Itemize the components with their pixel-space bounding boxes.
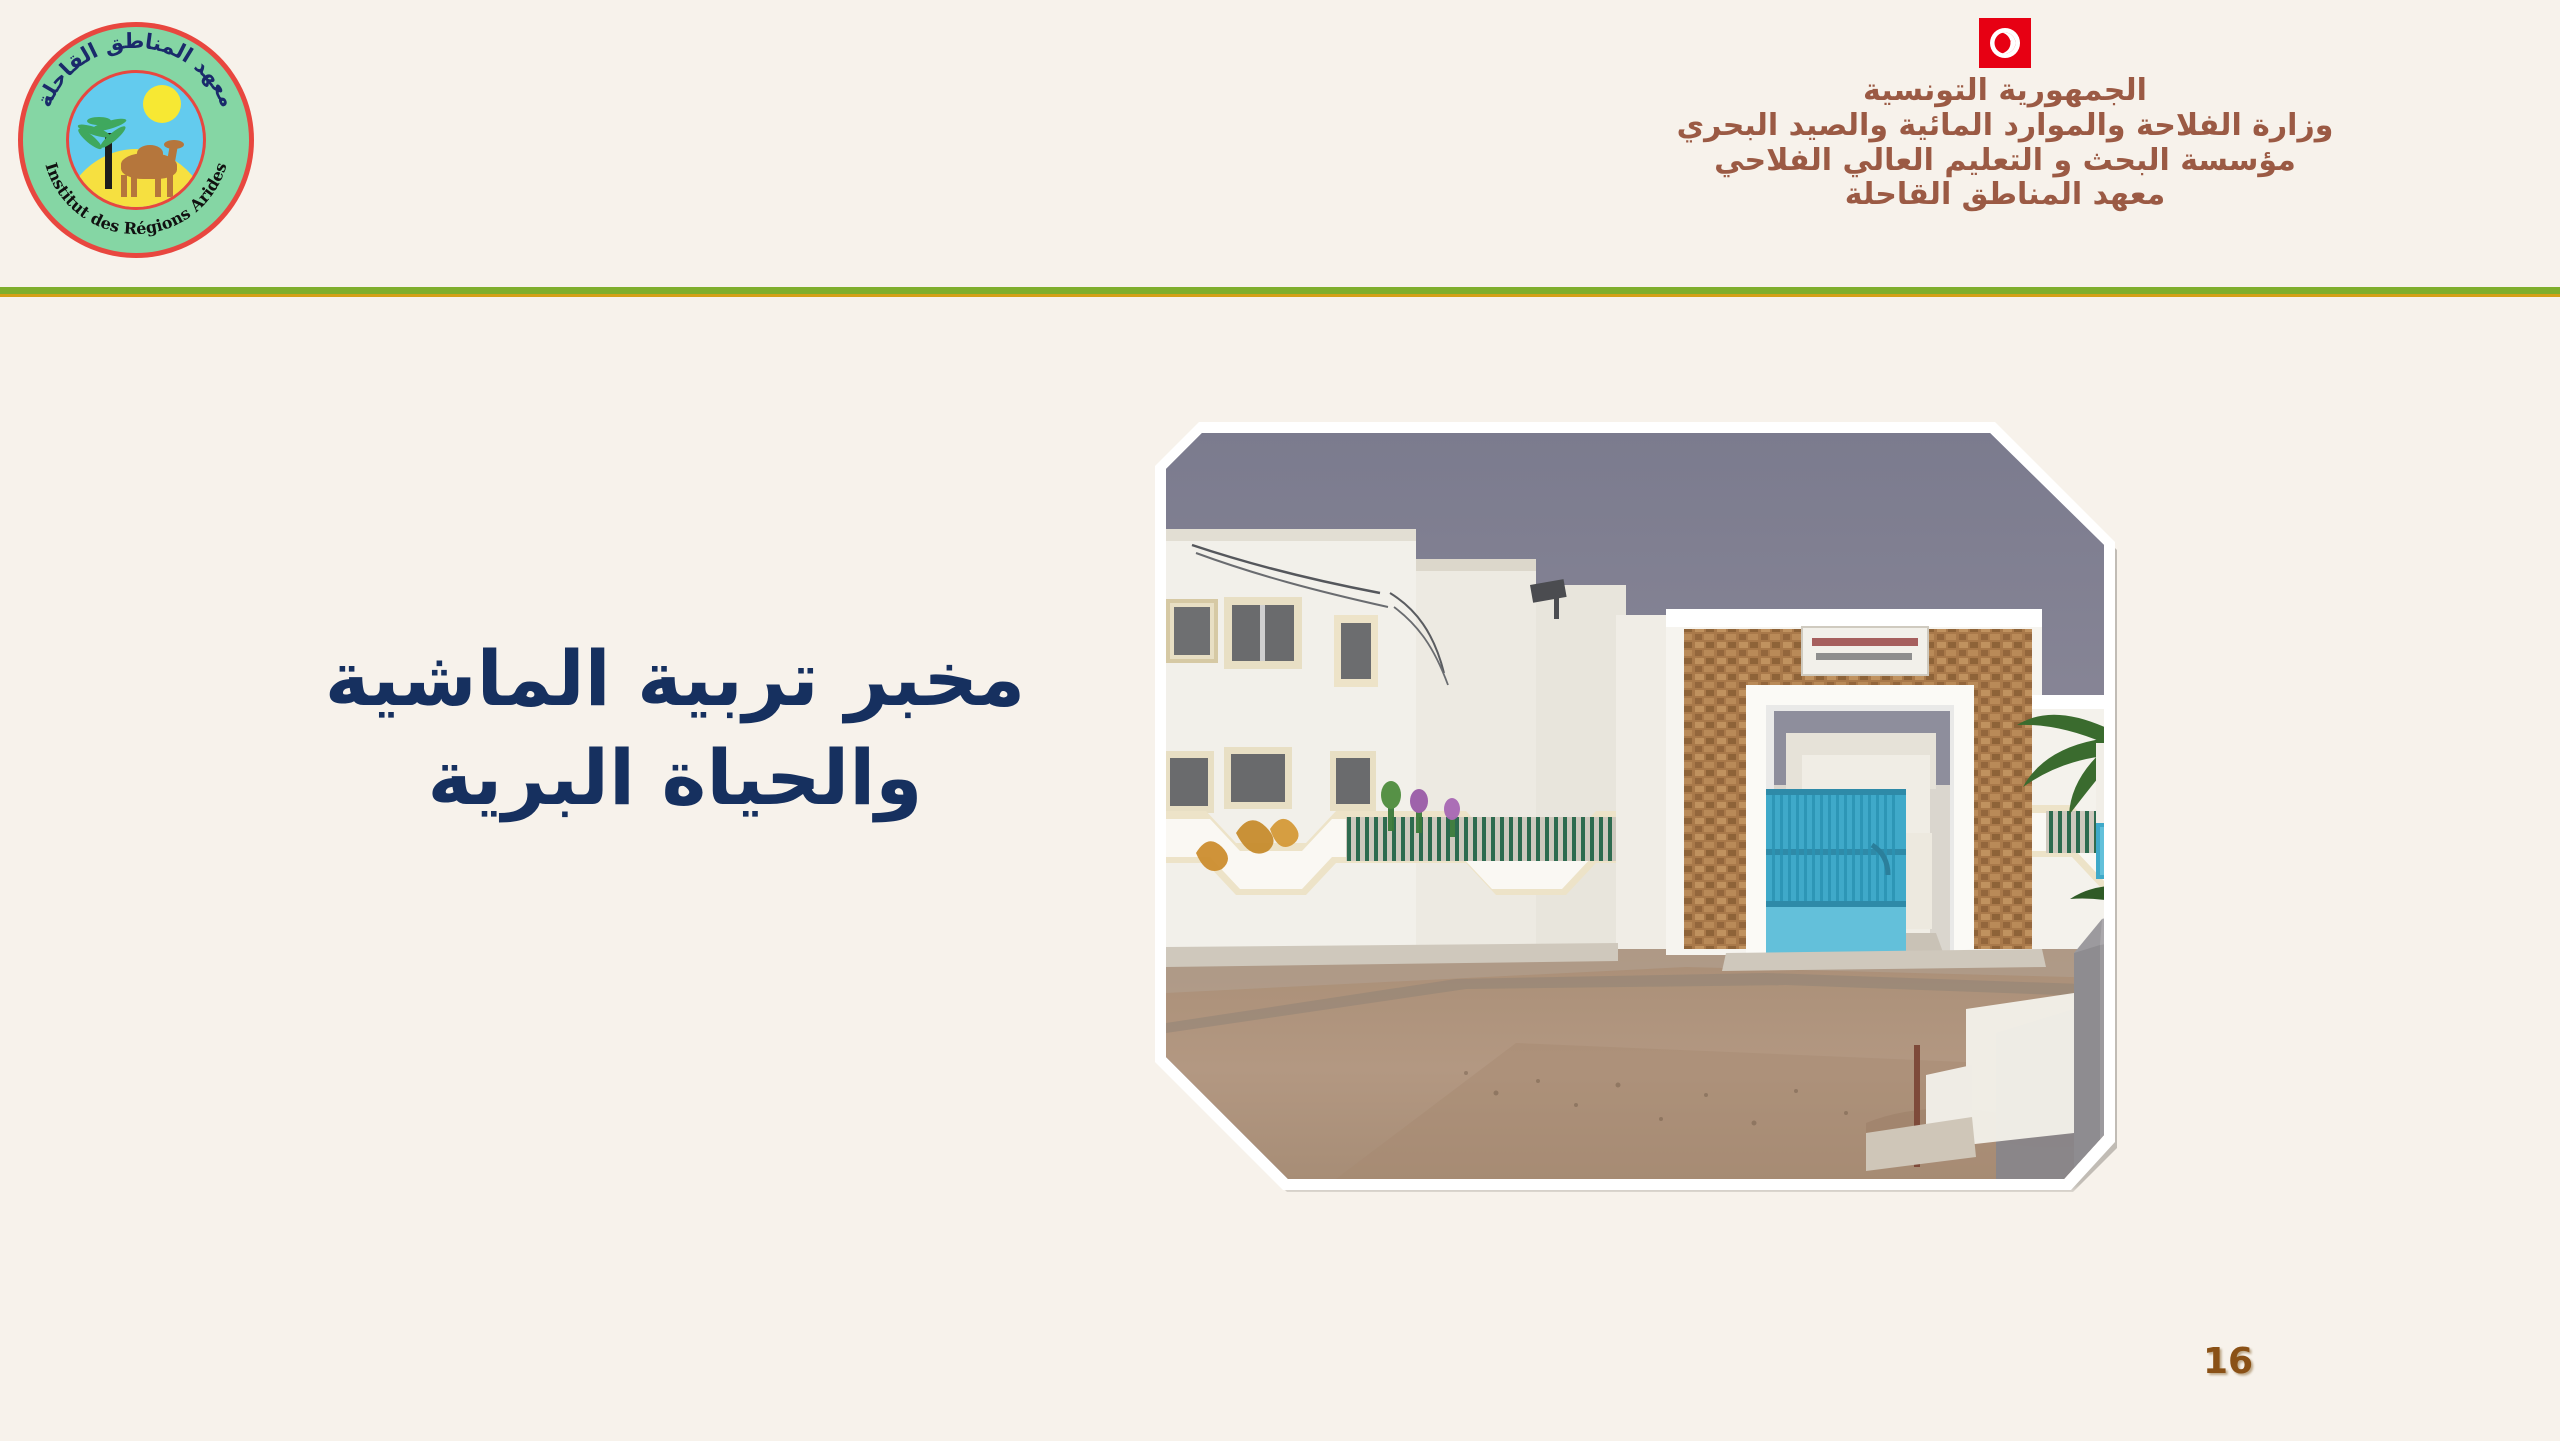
header-line-ministry: وزارة الفلاحة والموارد المائية والصيد ال… bbox=[1450, 109, 2560, 144]
header-line-republic: الجمهورية التونسية bbox=[1450, 74, 2560, 109]
fence-right bbox=[2046, 811, 2224, 853]
ministry-heading-block: ★ الجمهورية التونسية وزارة الفلاحة والمو… bbox=[1450, 14, 2560, 213]
slide-header: معهد المناطق القاحلة Institut des Région… bbox=[0, 0, 2560, 288]
fence-left bbox=[1346, 817, 1616, 861]
header-divider-green bbox=[0, 287, 2560, 294]
slide-title: مخبر تربية الماشية والحياة البرية bbox=[250, 630, 1100, 828]
institute-logo: معهد المناطق القاحلة Institut des Région… bbox=[18, 22, 254, 258]
stone-cladding-left bbox=[1684, 629, 1748, 949]
presentation-slide: معهد المناطق القاحلة Institut des Région… bbox=[0, 0, 2560, 1441]
entrance-gateway bbox=[1666, 609, 2042, 955]
logo-latin-text-arc: Institut des Régions Arides bbox=[18, 22, 254, 258]
slide-title-line-1: مخبر تربية الماشية bbox=[250, 630, 1100, 729]
photo-scene-illustration bbox=[1166, 433, 2224, 1179]
flag-star-icon: ★ bbox=[2000, 36, 2013, 50]
photo-white-frame bbox=[1155, 422, 2235, 1190]
institute-signboard bbox=[1802, 627, 1928, 675]
slide-page-number: 16 bbox=[2203, 1341, 2253, 1382]
logo-latin-label: Institut des Régions Arides bbox=[41, 160, 230, 238]
slide-title-line-2: والحياة البرية bbox=[250, 729, 1100, 828]
institute-entrance-photograph bbox=[1166, 433, 2224, 1179]
header-line-institution: مؤسسة البحث و التعليم العالي الفلاحي bbox=[1450, 144, 2560, 179]
photo-container bbox=[1155, 422, 2240, 1194]
header-divider-gold bbox=[0, 294, 2560, 297]
tunisia-flag-icon: ★ bbox=[1979, 18, 2031, 68]
stone-cladding-right bbox=[1970, 629, 2032, 949]
entrance-gate bbox=[1766, 789, 1906, 955]
header-line-institute: معهد المناطق القاحلة bbox=[1450, 178, 2560, 213]
